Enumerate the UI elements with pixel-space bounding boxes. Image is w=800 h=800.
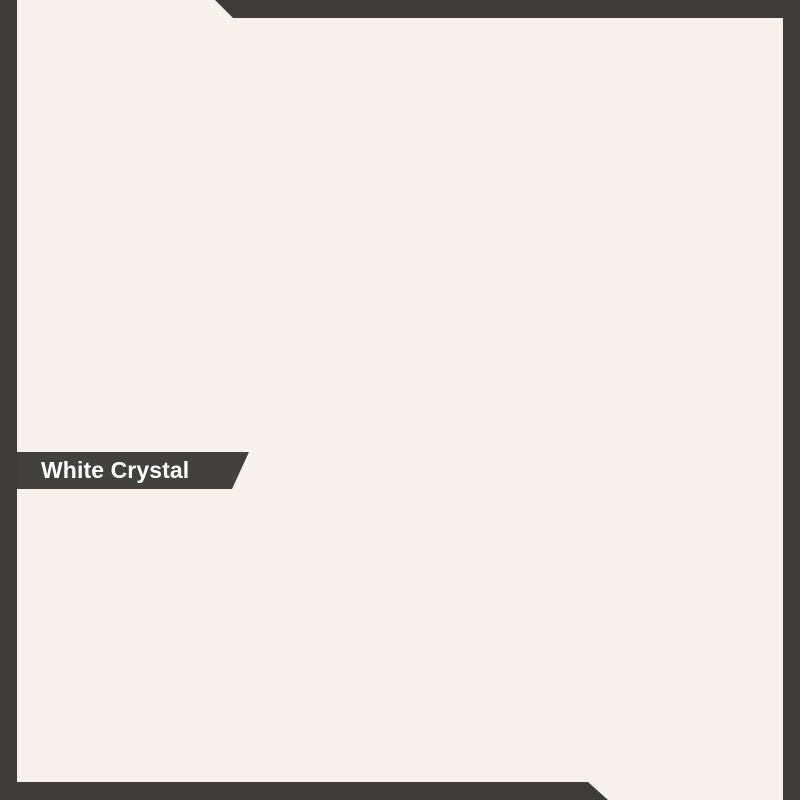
frame-right-bar [783,0,800,800]
frame-left-bar [0,0,17,800]
photo-caption-text: White Crystal [41,457,189,484]
poster-root: BUDDHA STONES Stone Features & Benefits [0,0,800,800]
photo-caption-banner: White Crystal [17,452,249,489]
page-background [0,0,800,800]
